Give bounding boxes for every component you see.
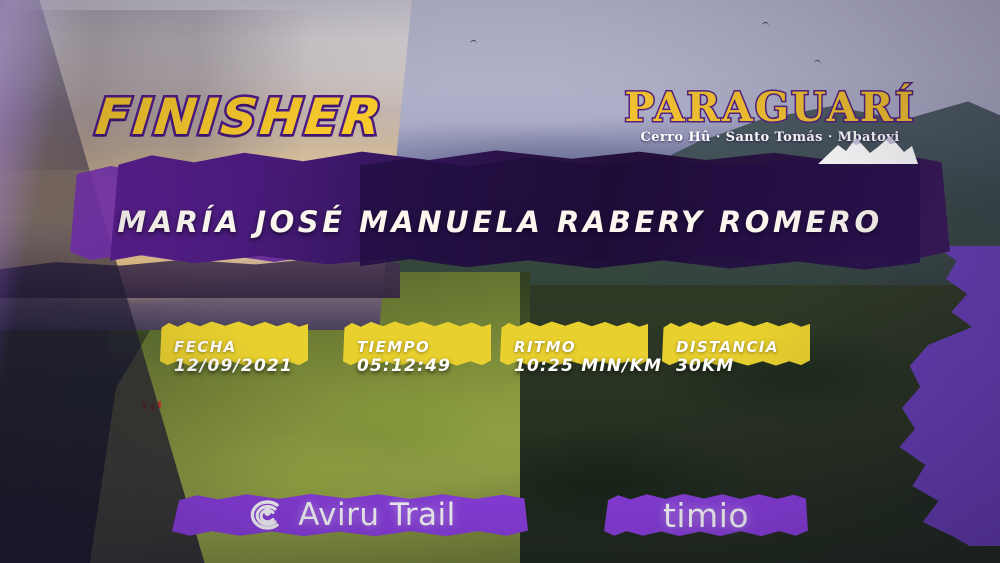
sponsor-aviru-label: Aviru Trail [298, 497, 455, 533]
stat-value: 05:12:49 [357, 356, 451, 376]
sponsor-aviru-content: Aviru Trail [244, 496, 455, 534]
event-logo-wordmark: PARAGUARÍ [620, 88, 920, 128]
stat-tiempo: TIEMPO 05:12:49 [343, 320, 491, 382]
event-logo: PARAGUARÍ Cerro Hû · Santo Tomás · Mbato… [620, 88, 920, 158]
sponsor-timio[interactable]: timio [604, 492, 808, 538]
finisher-certificate: FINISHER PARAGUARÍ Cerro Hû · Santo Tomá… [0, 0, 1000, 563]
spiral-shell-icon [244, 496, 286, 534]
stat-label: RITMO [514, 338, 576, 356]
mountains-icon [818, 132, 918, 164]
stat-ritmo: RITMO 10:25 MIN/KM [500, 320, 648, 382]
stat-label: FECHA [174, 338, 237, 356]
stat-value: 30KM [676, 356, 735, 376]
stat-fecha: FECHA 12/09/2021 [160, 320, 308, 382]
stat-value: 12/09/2021 [174, 356, 293, 376]
bird-icon [762, 22, 769, 26]
athlete-name: MARÍA JOSÉ MANUELA RABERY ROMERO [0, 205, 1000, 239]
sponsor-aviru-trail[interactable]: Aviru Trail [172, 492, 528, 538]
stat-value: 10:25 MIN/KM [514, 356, 662, 376]
stat-distancia: DISTANCIA 30KM [662, 320, 810, 382]
bird-icon [470, 40, 477, 45]
stat-label: TIEMPO [357, 338, 430, 356]
finisher-headline: FINISHER [93, 88, 387, 146]
stat-label: DISTANCIA [676, 338, 779, 356]
sponsor-timio-label: timio [663, 496, 749, 535]
